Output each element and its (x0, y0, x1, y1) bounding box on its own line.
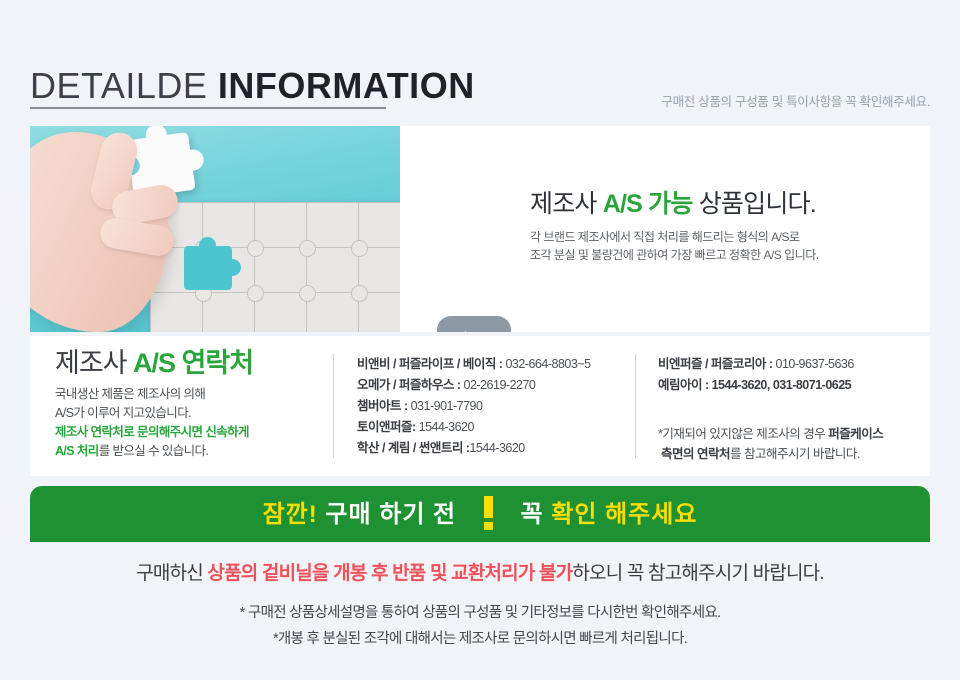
warning-text-white-2: 꼭 (521, 501, 544, 528)
contact-entry-label: 비앤비 / 퍼즐라이프 / 베이직 : (357, 357, 505, 371)
contact-divider-1 (333, 354, 334, 458)
notice-main-line: 구매하신 상품의 겉비닐을 개봉 후 반품 및 교환처리가 불가하오니 꼭 참고… (30, 560, 930, 588)
page-title-bold: INFORMATION (218, 65, 475, 106)
contact-entry: 비엔퍼즐 / 퍼즐코리아 : 010-9637-5636 (658, 354, 928, 375)
contact-footnote: *기재되어 있지않은 제조사의 경우 퍼즐케이스 측면의 연락처를 참고해주시기… (658, 424, 933, 464)
contact-footnote-line2: 측면의 연락처를 참고해주시기 바랍니다. (658, 444, 933, 464)
exclamation-dot (484, 522, 493, 530)
contact-entry-value: 031-901-7790 (411, 399, 483, 413)
contact-intro: 제조사 A/S 연락처 국내생산 제품은 제조사의 의해 A/S가 이루어 지고… (55, 346, 325, 461)
contact-entry-value: 1544-3620 (469, 441, 524, 455)
contact-entry: 학산 / 계림 / 썬앤트리 :1544-3620 (357, 438, 627, 459)
as-banner-text: 제조사 A/S 가능 상품입니다. 각 브랜드 제조사에서 직접 처리를 해드리… (530, 188, 930, 264)
page-title-thin: DETAILDE (30, 65, 207, 106)
as-banner-sub-line2: 조각 분실 및 불량건에 관하여 가장 빠르고 정확한 A/S 입니다. (530, 246, 930, 264)
page-header: DETAILDE INFORMATION 구매전 상품의 구성품 및 특이사항을… (30, 66, 930, 114)
contact-desc-line3: 제조사 연락처로 문의해주시면 신속하게 (55, 423, 325, 442)
contact-entry-value: 010-9637-5636 (776, 357, 854, 371)
contact-footnote-bold1: 퍼즐케이스 (828, 427, 883, 441)
puzzle-knob (351, 240, 368, 257)
contact-entry-label: 오메가 / 퍼즐하우스 : (357, 378, 464, 392)
contact-entry-value: 1544-3620, 031-8071-0625 (712, 378, 852, 392)
contact-entry: 토이앤퍼즐: 1544-3620 (357, 417, 627, 438)
contact-divider-2 (635, 354, 636, 458)
warning-text-yellow-2: 확인 해주세요 (551, 501, 697, 528)
warning-banner-text: 잠깐! 구매 하기 전 꼭 확인 해주세요 (263, 494, 698, 535)
contact-entry-label: 챔버아트 : (357, 399, 411, 413)
puzzle-knob (247, 285, 264, 302)
contact-description: 국내생산 제품은 제조사의 의해 A/S가 이루어 지고있습니다. 제조사 연락… (55, 385, 325, 461)
warning-banner: 잠깐! 구매 하기 전 꼭 확인 해주세요 (30, 486, 930, 542)
as-banner-sub: 각 브랜드 제조사에서 직접 처리를 해드리는 형식의 A/S로 조각 분실 및… (530, 228, 930, 264)
puzzle-empty-slot (184, 246, 232, 290)
contact-entry: 예림아이 : 1544-3620, 031-8071-0625 (658, 375, 928, 396)
contact-title: 제조사 A/S 연락처 (55, 346, 325, 380)
puzzle-knob (299, 285, 316, 302)
contact-desc-line4-green: A/S 처리 (55, 444, 99, 458)
header-note: 구매전 상품의 구성품 및 특이사항을 꼭 확인해주세요. (661, 91, 930, 110)
as-headline-accent: A/S 가능 (603, 190, 693, 218)
contact-entry-label: 학산 / 계림 / 썬앤트리 : (357, 441, 469, 455)
puzzle-hand-photo (30, 126, 400, 332)
contact-column-right: 비엔퍼즐 / 퍼즐코리아 : 010-9637-5636 예림아이 : 1544… (658, 354, 928, 396)
contact-entry-value: 032-664-8803~5 (505, 357, 590, 371)
contact-desc-line2: A/S가 이루어 지고있습니다. (55, 404, 325, 423)
as-headline-post: 상품입니다. (693, 190, 816, 218)
contact-desc-line4: A/S 처리를 받으실 수 있습니다. (55, 442, 325, 461)
as-banner-sub-line1: 각 브랜드 제조사에서 직접 처리를 해드리는 형식의 A/S로 (530, 228, 930, 246)
notice-section: 구매하신 상품의 겉비닐을 개봉 후 반품 및 교환처리가 불가하오니 꼭 참고… (30, 542, 930, 652)
exclamation-stem (484, 496, 493, 518)
contact-entry: 비앤비 / 퍼즐라이프 / 베이직 : 032-664-8803~5 (357, 354, 627, 375)
notice-main-post: 하오니 꼭 참고해주시기 바랍니다. (572, 563, 823, 584)
contact-entry-value: 1544-3620 (419, 420, 474, 434)
as-headline-pre: 제조사 (530, 190, 603, 218)
contact-footnote-line1: *기재되어 있지않은 제조사의 경우 퍼즐케이스 (658, 424, 933, 444)
puzzle-knob (247, 240, 264, 257)
puzzle-knob (299, 240, 316, 257)
notice-main-red: 상품의 겉비닐을 개봉 후 반품 및 교환처리가 불가 (207, 563, 572, 584)
page-title: DETAILDE INFORMATION (30, 66, 475, 106)
notice-main-pre: 구매하신 (136, 563, 207, 584)
as-contact-card: 제조사 A/S 연락처 국내생산 제품은 제조사의 의해 A/S가 이루어 지고… (30, 336, 930, 476)
as-banner: 제조사 A/S 가능 상품입니다. 각 브랜드 제조사에서 직접 처리를 해드리… (30, 126, 930, 332)
warning-text-yellow-1: 잠깐! (263, 501, 318, 528)
contact-footnote-post: 를 참고해주시기 바랍니다. (730, 447, 860, 461)
contact-entry-label: 비엔퍼즐 / 퍼즐코리아 : (658, 357, 776, 371)
warning-text-white-1: 구매 하기 전 (325, 501, 456, 528)
contact-footnote-pre: *기재되어 있지않은 제조사의 경우 (658, 427, 828, 441)
puzzle-knob (351, 285, 368, 302)
notice-sub-lines: * 구매전 상품상세설명을 통하여 상품의 구성품 및 기타정보를 다시한번 확… (30, 600, 930, 652)
contact-title-pre: 제조사 (55, 348, 133, 378)
contact-column-middle: 비앤비 / 퍼즐라이프 / 베이직 : 032-664-8803~5 오메가 /… (357, 354, 627, 459)
contact-title-accent: A/S 연락처 (133, 348, 253, 378)
contact-entry: 오메가 / 퍼즐하우스 : 02-2619-2270 (357, 375, 627, 396)
contact-desc-line4-rest: 를 받으실 수 있습니다. (99, 444, 209, 458)
contact-desc-line1: 국내생산 제품은 제조사의 의해 (55, 385, 325, 404)
notice-sub-line1: * 구매전 상품상세설명을 통하여 상품의 구성품 및 기타정보를 다시한번 확… (30, 600, 930, 626)
notice-sub-line2: *개봉 후 분실된 조각에 대해서는 제조사로 문의하시면 빠르게 처리됩니다. (30, 626, 930, 652)
contact-footnote-bold2: 측면의 연락처 (661, 447, 730, 461)
title-underline (30, 107, 386, 109)
as-banner-headline: 제조사 A/S 가능 상품입니다. (530, 188, 930, 220)
contact-entry-value: 02-2619-2270 (464, 378, 536, 392)
contact-entry-label: 토이앤퍼즐: (357, 420, 419, 434)
contact-entry-label: 예림아이 : (658, 378, 712, 392)
contact-entry: 챔버아트 : 031-901-7790 (357, 396, 627, 417)
gears-icon (437, 316, 511, 332)
exclamation-mark-icon (484, 496, 493, 530)
